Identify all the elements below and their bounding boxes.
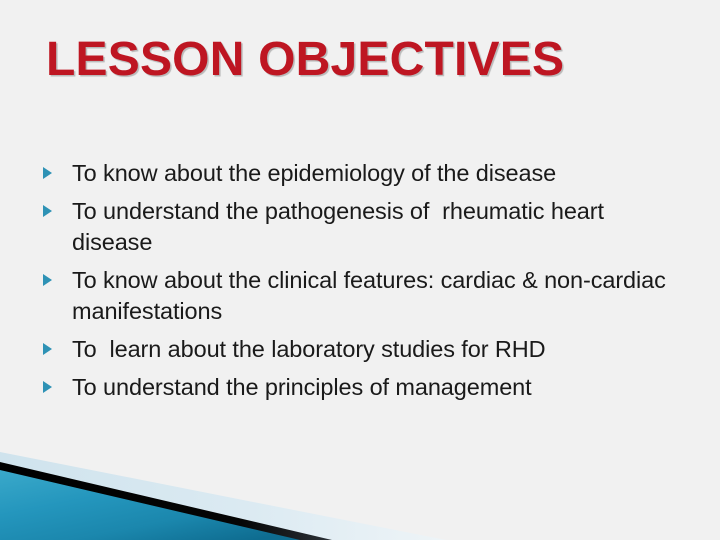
list-item: To know about the clinical features: car…: [40, 265, 688, 327]
title-placeholder: LESSON OBJECTIVES: [46, 32, 686, 92]
list-item: To learn about the laboratory studies fo…: [40, 334, 688, 365]
slide-decoration-graphic: [0, 435, 720, 540]
pale-wedge-shape: [0, 452, 446, 540]
teal-wedge-shape: [0, 470, 300, 540]
triangle-bullet-icon: [43, 343, 52, 355]
list-item-label: To know about the clinical features: car…: [72, 265, 688, 327]
triangle-bullet-icon: [43, 167, 52, 179]
page-title: LESSON OBJECTIVES: [46, 32, 686, 88]
list-item-label: To know about the epidemiology of the di…: [72, 158, 688, 189]
flow-wedge-svg: [0, 435, 720, 540]
triangle-bullet-icon: [43, 381, 52, 393]
list-item-label: To understand the principles of manageme…: [72, 372, 688, 403]
list-item: To understand the principles of manageme…: [40, 372, 688, 403]
list-item-label: To learn about the laboratory studies fo…: [72, 334, 688, 365]
list-item: To know about the epidemiology of the di…: [40, 158, 688, 189]
list-item-label: To understand the pathogenesis of rheuma…: [72, 196, 688, 258]
slide: LESSON OBJECTIVES To know about the epid…: [0, 0, 720, 540]
triangle-bullet-icon: [43, 205, 52, 217]
list-item: To understand the pathogenesis of rheuma…: [40, 196, 688, 258]
content-placeholder: To know about the epidemiology of the di…: [40, 158, 688, 410]
triangle-bullet-icon: [43, 274, 52, 286]
objectives-list: To know about the epidemiology of the di…: [40, 158, 688, 403]
black-stripe-shape: [0, 462, 332, 540]
